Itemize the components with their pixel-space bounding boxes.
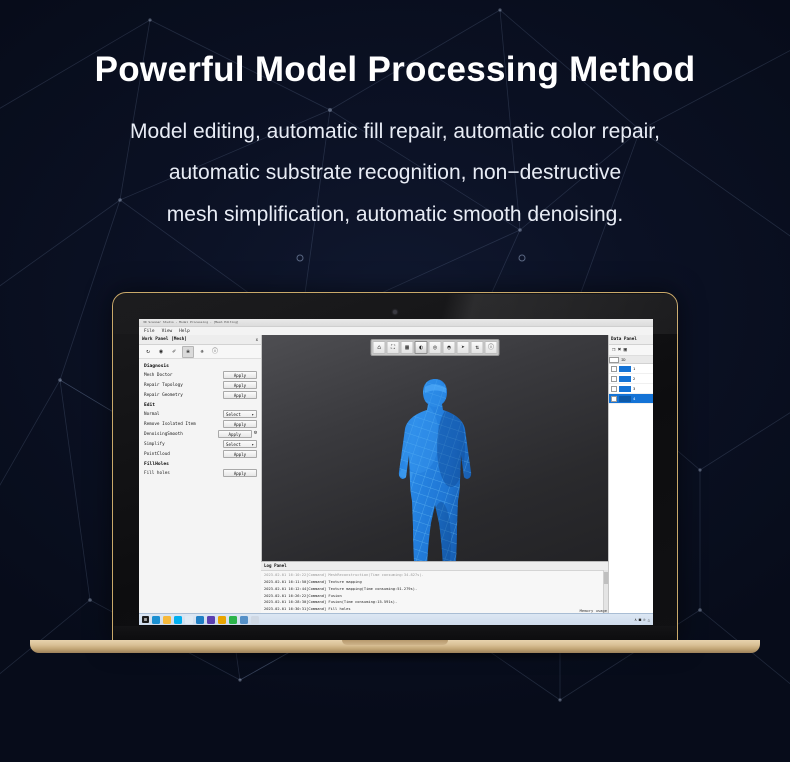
- file-explorer-icon[interactable]: [163, 616, 171, 624]
- menu-item-file[interactable]: File: [144, 329, 155, 334]
- table-row[interactable]: 4: [609, 394, 653, 404]
- log-panel-content: 2023-02-01 16:10:22[Command] MeshReconst…: [261, 571, 608, 614]
- info-icon[interactable]: ⓘ: [485, 341, 498, 354]
- row-label: Repair Geometry: [144, 393, 183, 398]
- table-row[interactable]: 2: [609, 374, 653, 384]
- subtitle-line-1: Model editing, automatic fill repair, au…: [0, 111, 790, 153]
- network-icon[interactable]: ✆: [643, 617, 645, 622]
- eye-icon[interactable]: ◉: [156, 347, 166, 357]
- page-subtitle: Model editing, automatic fill repair, au…: [0, 111, 790, 236]
- info-icon[interactable]: ⓘ: [210, 347, 220, 357]
- laptop-lid: 3D Scanner Studio - Model Processing - […: [112, 292, 678, 644]
- row-label: DenoisingSmooth: [144, 432, 183, 437]
- hero-section: Powerful Model Processing Method Model e…: [0, 48, 790, 235]
- row-thumbnail: [619, 366, 631, 372]
- select-value: Select: [226, 442, 241, 447]
- skype-icon[interactable]: [174, 616, 182, 624]
- base-notch: [342, 640, 448, 645]
- row-simplify: Simplify Select ▾: [139, 439, 261, 449]
- start-button-icon[interactable]: ⊞: [142, 616, 149, 623]
- row-thumbnail: [619, 386, 631, 392]
- chevron-down-icon: ▾: [252, 442, 254, 447]
- page-title: Powerful Model Processing Method: [0, 48, 790, 92]
- close-icon[interactable]: x: [256, 337, 258, 342]
- windows-taskbar: ⊞ ∧ ■ ✆: [139, 613, 653, 625]
- data-panel-column-headers: ID: [609, 356, 653, 364]
- section-title-fillholes: FillHoles: [139, 459, 261, 468]
- row-label: Remove Isolated Item: [144, 422, 196, 427]
- app-icon[interactable]: [240, 616, 248, 624]
- row-fill-holes: Fill holes Apply: [139, 468, 261, 478]
- log-panel: Log Panel 2023-02-01 16:10:22[Command] M…: [261, 561, 609, 614]
- row-normal: Normal Select ▾: [139, 409, 261, 419]
- delete-icon[interactable]: ✖: [618, 347, 621, 353]
- brush-icon[interactable]: ✐: [169, 347, 179, 357]
- log-line: 2023-02-01 16:10:22[Command] MeshReconst…: [264, 572, 605, 579]
- scrollbar-thumb[interactable]: [604, 572, 608, 584]
- edge-browser-icon[interactable]: [196, 616, 204, 624]
- data-panel-rows: 1 2 3: [609, 364, 653, 614]
- log-line: 2023-02-01 16:26:22[Command] Fusion: [264, 593, 605, 600]
- table-row[interactable]: 1: [609, 364, 653, 374]
- row-checkbox[interactable]: [611, 386, 617, 392]
- row-id: 4: [633, 396, 635, 401]
- work-panel-header: Work Panel [Mesh] x: [139, 335, 261, 345]
- log-line: 2023-02-01 16:28:30[Command] Fusion(Time…: [264, 599, 605, 606]
- data-panel-title: Data Panel: [609, 335, 653, 345]
- menu-item-help[interactable]: Help: [179, 329, 190, 334]
- menu-item-view[interactable]: View: [162, 329, 173, 334]
- grid-view-icon[interactable]: ▦: [401, 341, 414, 354]
- apply-button[interactable]: Apply: [223, 381, 257, 389]
- battery-icon[interactable]: ■: [639, 617, 641, 622]
- stamp-icon[interactable]: ✵: [197, 347, 207, 357]
- data-panel-toolbar: ❐ ✖ ▣: [609, 345, 653, 356]
- row-id: 2: [633, 376, 635, 381]
- subtitle-line-3: mesh simplification, automatic smooth de…: [0, 194, 790, 236]
- wechat-icon[interactable]: [229, 616, 237, 624]
- webcam-icon: [393, 310, 397, 314]
- data-panel: Data Panel ❐ ✖ ▣ ID: [608, 335, 653, 614]
- app-title-bar: 3D Scanner Studio - Model Processing - […: [139, 319, 653, 327]
- chevron-down-icon: ▾: [252, 412, 254, 417]
- row-id: 3: [633, 386, 635, 391]
- store-icon[interactable]: [207, 616, 215, 624]
- edge-icon[interactable]: [152, 616, 160, 624]
- work-panel-title: Work Panel [Mesh]: [142, 337, 187, 342]
- row-label: PointCloud: [144, 452, 170, 457]
- apply-button[interactable]: Apply: [223, 450, 257, 458]
- subtitle-line-2: automatic substrate recognition, non−des…: [0, 152, 790, 194]
- rotate-icon[interactable]: ↻: [143, 347, 153, 357]
- chrome-icon[interactable]: [218, 616, 226, 624]
- select-cursor-icon[interactable]: ➤: [457, 341, 470, 354]
- human-body-3d-scan-wireframe[interactable]: [381, 377, 489, 589]
- paint-icon[interactable]: ❀: [182, 346, 194, 358]
- apply-button[interactable]: Apply: [218, 430, 252, 438]
- row-label: Simplify: [144, 442, 165, 447]
- apply-button[interactable]: Apply: [223, 420, 257, 428]
- select-all-checkbox[interactable]: [609, 357, 619, 363]
- section-title-edit: Edit: [139, 400, 261, 409]
- home-view-icon[interactable]: ⌂: [373, 341, 386, 354]
- table-row[interactable]: 3: [609, 384, 653, 394]
- new-file-icon[interactable]: ❐: [612, 347, 615, 353]
- laptop-screen: 3D Scanner Studio - Model Processing - […: [139, 319, 653, 625]
- log-line: 2023-02-01 16:11:50[Command] Texture map…: [264, 579, 605, 586]
- normal-select[interactable]: Select ▾: [223, 410, 257, 418]
- row-checkbox[interactable]: [611, 376, 617, 382]
- work-panel-toolbar: ↻ ◉ ✐ ❀ ✵ ⓘ: [139, 345, 261, 359]
- select-value: Select: [226, 412, 241, 417]
- work-panel: Work Panel [Mesh] x ↻ ◉ ✐ ❀ ✵ ⓘ: [139, 335, 262, 614]
- viewport-toolbar: ⌂ ⛶ ▦ ◐ ◎ ◓ ➤ ⇅ ⓘ: [371, 339, 500, 356]
- row-checkbox[interactable]: [611, 366, 617, 372]
- log-line: 2023-02-01 16:12:44[Command] Texture map…: [264, 586, 605, 593]
- apply-button[interactable]: Apply: [223, 371, 257, 379]
- move-axis-icon[interactable]: ⇅: [471, 341, 484, 354]
- row-id: 1: [633, 366, 635, 371]
- row-point-cloud: PointCloud Apply: [139, 449, 261, 459]
- column-header-id: ID: [619, 357, 628, 362]
- laptop-base: [0, 640, 790, 660]
- chevron-up-icon[interactable]: ∧: [634, 617, 636, 622]
- wireframe-icon[interactable]: ◎: [429, 341, 442, 354]
- light-icon[interactable]: ◐: [415, 341, 428, 354]
- row-label: Repair Topology: [144, 383, 183, 388]
- scanner-application: 3D Scanner Studio - Model Processing - […: [139, 319, 653, 625]
- row-label: Normal: [144, 412, 160, 417]
- row-repair-geometry: Repair Geometry Apply: [139, 390, 261, 400]
- section-title-diagnosis: Diagnosis: [139, 361, 261, 370]
- row-thumbnail: [619, 396, 631, 402]
- row-remove-isolated-item: Remove Isolated Item Apply: [139, 419, 261, 429]
- row-mesh-doctor: Mesh Doctor Apply: [139, 370, 261, 380]
- row-repair-topology: Repair Topology Apply: [139, 380, 261, 390]
- system-tray: ∧ ■ ✆ △: [634, 617, 650, 622]
- apply-button[interactable]: Apply: [223, 469, 257, 477]
- fit-view-icon[interactable]: ⛶: [387, 341, 400, 354]
- row-checkbox[interactable]: [611, 396, 617, 402]
- gear-icon[interactable]: ⚙: [254, 431, 257, 437]
- row-thumbnail: [619, 376, 631, 382]
- base-shadow: [50, 653, 740, 663]
- row-denoising-smooth: DenoisingSmooth Apply ⚙: [139, 429, 261, 439]
- row-label: Mesh Doctor: [144, 373, 172, 378]
- row-label: Fill holes: [144, 471, 170, 476]
- scanner-app-icon[interactable]: [251, 616, 259, 624]
- apply-button[interactable]: Apply: [223, 391, 257, 399]
- save-icon[interactable]: ▣: [624, 347, 627, 353]
- texture-icon[interactable]: ◓: [443, 341, 456, 354]
- work-panel-content: Diagnosis Mesh Doctor Apply Repair Topol…: [139, 359, 261, 614]
- simplify-select[interactable]: Select ▾: [223, 440, 257, 448]
- search-icon[interactable]: [185, 616, 193, 624]
- volume-icon[interactable]: △: [648, 617, 650, 622]
- laptop-mockup: 3D Scanner Studio - Model Processing - […: [0, 292, 790, 682]
- log-panel-title: Log Panel: [261, 562, 608, 571]
